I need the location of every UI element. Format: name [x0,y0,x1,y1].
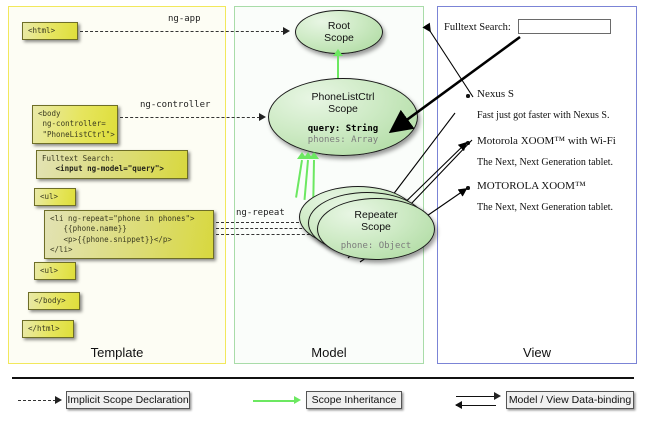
scope-ctrl-prop-query: query: String [308,124,378,134]
legend-glyph-dashed-arrowhead [55,396,62,404]
legend-glyph-bidir-bottom [456,405,496,406]
scope-repeater-prop-phone: phone: Object [341,241,411,251]
code-html-close: </html> [22,320,74,338]
connector-ng-controller-arrowhead [259,113,266,121]
legend-glyph-bidir-top [456,396,496,397]
view-phone-name-0: Nexus S [477,88,514,100]
legend-item-scope-inheritance: Scope Inheritance [306,391,402,409]
edge-label-ng-controller: ng-controller [140,100,210,110]
edge-label-ng-repeat: ng-repeat [236,208,285,218]
scope-root: Root Scope [295,10,383,54]
connector-ng-repeat-3 [216,234,320,235]
inheritance-arrow-rep3 [309,152,319,159]
scope-ctrl-line2: Scope [328,103,358,115]
scope-repeater-line2: Scope [361,221,391,233]
code-ul-close: <ul> [34,262,76,280]
view-phone-name-2: MOTOROLA XOOM™ [477,180,586,192]
legend-glyph-dashed [18,400,56,401]
view-search-label: Fulltext Search: [444,22,511,33]
code-search-line2: <input ng-model="query"> [42,164,164,173]
legend-item-model-view-databinding: Model / View Data-binding [506,391,634,409]
connector-ng-repeat-1 [216,222,304,223]
legend-glyph-green-arrowhead [294,396,301,404]
view-phone-snippet-2: The Next, Next Generation tablet. [477,202,613,213]
code-li-repeat-block: <li ng-repeat="phone in phones"> {{phone… [44,210,214,259]
code-search-block: Fulltext Search: <input ng-model="query"… [36,150,188,179]
legend-glyph-bidir-bottom-arrowhead [455,401,462,409]
legend-glyph-green [253,400,295,402]
scope-phonelistctrl: PhoneListCtrl Scope query: String phones… [268,78,418,156]
legend-item-implicit-scope-declaration: Implicit Scope Declaration [66,391,190,409]
code-body-close: </body> [28,292,80,310]
view-bullet-1 [466,141,470,145]
connector-ng-controller [120,117,260,118]
code-body-open: <body ng-controller= "PhoneListCtrl"> [32,105,118,144]
panel-view-label: View [438,345,636,360]
inheritance-arrow-ctrl-to-root [333,49,343,56]
code-search-line1: Fulltext Search: [42,154,114,163]
scope-root-line2: Scope [324,32,354,44]
connector-ng-app [80,31,284,32]
view-phone-name-1: Motorola XOOM™ with Wi-Fi [477,135,616,147]
code-ul-open: <ul> [34,188,76,206]
legend-glyph-bidir-top-arrowhead [494,392,501,400]
diagram-canvas: Template Model View <html> <body ng-cont… [0,0,645,425]
panel-model-label: Model [235,345,423,360]
view-phone-snippet-1: The Next, Next Generation tablet. [477,157,613,168]
connector-ng-repeat-2 [216,228,312,229]
scope-repeater-front: Repeater Scope phone: Object [317,198,435,260]
code-html-open: <html> [22,22,78,40]
scope-ctrl-prop-phones: phones: Array [308,135,378,145]
view-phone-snippet-0: Fast just got faster with Nexus S. [477,110,610,121]
panel-template-label: Template [9,345,225,360]
edge-label-ng-app: ng-app [168,14,201,24]
scope-root-line1: Root [328,20,350,32]
fulltext-search-input[interactable] [518,19,611,34]
scope-repeater-line1: Repeater [354,209,397,221]
view-bullet-0 [466,94,470,98]
connector-ng-app-arrowhead [283,27,290,35]
view-bullet-2 [466,186,470,190]
scope-ctrl-line1: PhoneListCtrl [311,91,374,103]
legend-divider [12,377,634,379]
panel-model: Model [234,6,424,364]
